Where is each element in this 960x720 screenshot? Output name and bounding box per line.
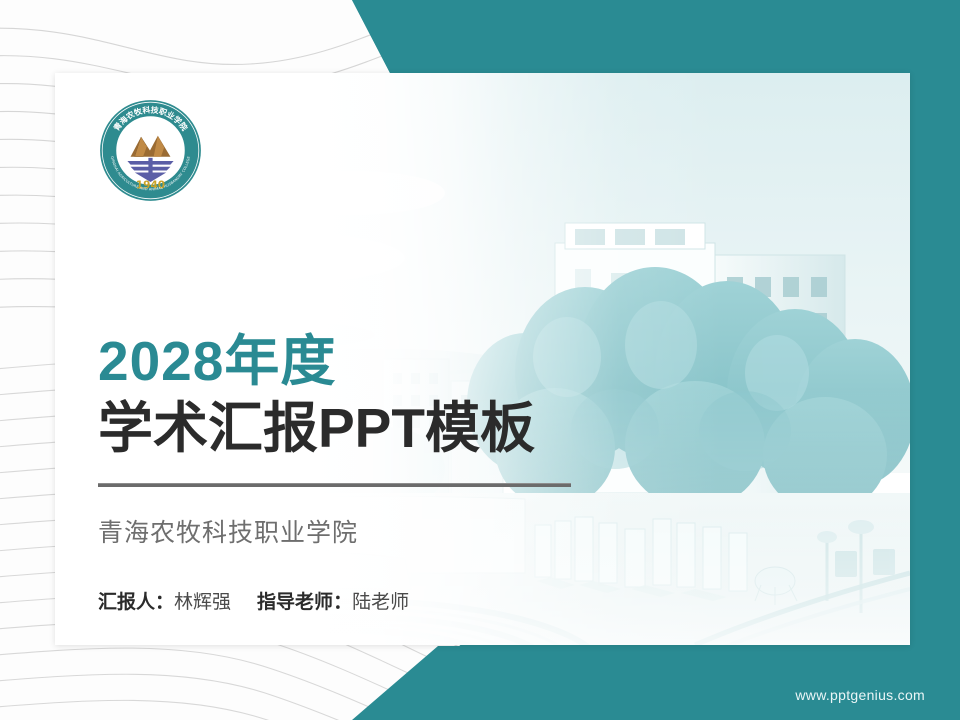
footer-website-url[interactable]: www.pptgenius.com <box>795 687 925 703</box>
slide-content-card: 科技职业学院 <box>55 73 910 645</box>
advisor-label: 指导老师 <box>257 592 333 613</box>
school-name: 青海农牧科技职业学院 <box>98 513 658 549</box>
reporter-name: 林辉强 <box>174 592 231 613</box>
reporter-separator: ： <box>155 592 174 613</box>
advisor-name: 陆老师 <box>352 592 409 613</box>
advisor-separator: ： <box>333 592 352 613</box>
title-content-block: 1940 青海农牧科技职业学院 QINGHAI AGRICULTURE AND … <box>98 98 658 614</box>
title-divider-rule <box>98 483 571 487</box>
qinghai-agriculture-college-emblem-icon: 1940 青海农牧科技职业学院 QINGHAI AGRICULTURE AND … <box>98 98 203 203</box>
page-title-main: 学术汇报PPT模板 <box>98 399 658 458</box>
presentation-slide: 科技职业学院 <box>0 0 960 720</box>
presenter-info: 汇报人：林辉强指导老师：陆老师 <box>98 587 658 614</box>
reporter-label: 汇报人 <box>98 592 155 613</box>
page-title-year: 2028年度 <box>98 333 658 391</box>
